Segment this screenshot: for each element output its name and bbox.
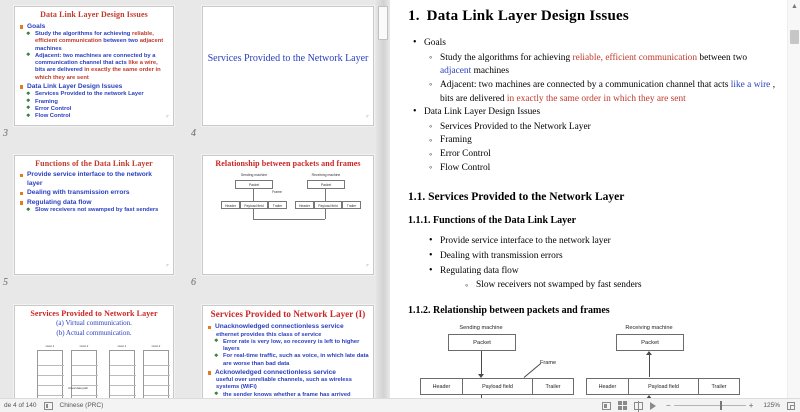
normal-view-icon[interactable] xyxy=(602,402,611,410)
bullet-level1: Dealing with transmission errors xyxy=(19,189,169,197)
slide-thumbnail-5[interactable]: Functions of the Data Link Layer Provide… xyxy=(14,155,174,275)
bullet-level2: Error Control xyxy=(19,106,169,113)
pane-splitter-scrollbar[interactable] xyxy=(376,0,390,412)
heading-text: Data Link Layer Design Issues xyxy=(427,8,629,24)
bullet-level1: Regulating data flow xyxy=(19,199,169,207)
heading-number: 1.1. xyxy=(408,191,425,203)
slide-cell[interactable]: Data Link Layer Design Issues Goals Stud… xyxy=(0,0,188,148)
bullet-level2: For real-time traffic, such as voice, in… xyxy=(207,353,369,367)
document-body: 1.Data Link Layer Design Issues Goals St… xyxy=(390,0,800,412)
slide-sorter-pane[interactable]: Data Link Layer Design Issues Goals Stud… xyxy=(0,0,376,412)
slide-number: 4 xyxy=(191,128,196,139)
status-bar: de 4 of 140 Chinese (PRC) − + 125% xyxy=(0,398,800,412)
section-heading-1-1: 1.1. Services Provided to the Network La… xyxy=(408,191,776,203)
list-item: Goals xyxy=(408,37,776,51)
slide-cell[interactable]: Relationship between packets and frames … xyxy=(188,149,376,299)
header-box: Header xyxy=(295,201,314,209)
frame-leader-line xyxy=(524,363,541,378)
bullet-level2: Framing xyxy=(19,99,169,106)
scrollbar-thumb[interactable] xyxy=(790,30,799,44)
bullet-plain: useful over unreliable channels, such as… xyxy=(207,377,369,391)
sending-machine-label: Sending machine xyxy=(436,325,526,331)
slide-indicator: de 4 of 140 xyxy=(4,402,37,409)
slide-title: Services Provided to the Network Layer xyxy=(203,53,373,66)
slide-title: Functions of the Data Link Layer xyxy=(15,160,173,169)
slide-cell[interactable]: Functions of the Data Link Layer Provide… xyxy=(0,149,188,299)
slide-cell[interactable]: Services Provided to the Network Layer ⌜… xyxy=(188,0,376,148)
heading-number: 1.1.1. xyxy=(408,215,431,226)
slide-cell[interactable]: Services Provided to Network Layer (a) V… xyxy=(0,299,188,412)
list-item: Framing xyxy=(408,134,776,148)
link-line xyxy=(325,209,326,219)
zoom-track[interactable] xyxy=(674,405,746,406)
zoom-slider[interactable]: − + xyxy=(663,401,756,410)
virtual-path-label: virtual data path xyxy=(65,386,91,390)
slide-title: Relationship between packets and frames xyxy=(203,160,373,169)
slide-thumbnail-6[interactable]: Relationship between packets and frames … xyxy=(202,155,374,275)
link-line xyxy=(253,209,254,219)
payload-field-box: Payload field xyxy=(462,378,532,395)
heading-number: 1. xyxy=(408,8,420,24)
slide-thumbnail-8[interactable]: Services Provided to Network Layer (I) U… xyxy=(202,305,374,412)
zoom-in-button[interactable]: + xyxy=(746,401,757,410)
status-bar-right: − + 125% xyxy=(602,401,800,410)
host-label: Host 1 xyxy=(109,344,135,348)
slide-number: 3 xyxy=(3,128,8,139)
slide-title: Services Provided to Network Layer xyxy=(15,310,173,319)
bullet-level1: Acknowledged connectionless service xyxy=(207,369,369,377)
frame-label: Frame xyxy=(263,190,291,194)
slide-title: Data Link Layer Design Issues xyxy=(15,11,173,20)
receiving-machine-label: Receiving machine xyxy=(604,325,694,331)
slide-thumbnail-4[interactable]: Services Provided to the Network Layer ⌜ xyxy=(202,6,374,126)
slide-number: 5 xyxy=(3,277,8,288)
powerpoint-window: Data Link Layer Design Issues Goals Stud… xyxy=(0,0,800,412)
list-item: Services Provided to the Network Layer xyxy=(408,121,776,135)
arrow-up-icon xyxy=(646,351,652,355)
trailer-box: Trailer xyxy=(532,378,574,395)
reading-view-icon[interactable] xyxy=(634,402,643,410)
language-indicator[interactable]: Chinese (PRC) xyxy=(60,402,104,409)
bullet-plain: ethernet provides this class of service xyxy=(207,332,369,339)
bullet-level1: Unacknowledged connectionless service xyxy=(207,323,369,331)
heading-text: Services Provided to the Network Layer xyxy=(428,191,624,203)
bullet-level2: Study the algorithms for achieving relia… xyxy=(19,31,169,53)
section-heading-1-1-1: 1.1.1. Functions of the Data Link Layer xyxy=(408,215,776,226)
heading-text: Functions of the Data Link Layer xyxy=(433,215,576,226)
slide-cell[interactable]: Services Provided to Network Layer (I) U… xyxy=(188,299,376,412)
bullet-level2: Slow receivers not swamped by fast sende… xyxy=(19,207,169,214)
zoom-level-label[interactable]: 125% xyxy=(763,402,780,409)
functions-list: Provide service interface to the network… xyxy=(424,235,776,293)
slide-corner-mark: ⌜ xyxy=(166,264,169,271)
host-label: Host 1 xyxy=(37,344,63,348)
packet-to-frame-line xyxy=(481,351,482,375)
trailer-box: Trailer xyxy=(342,201,361,209)
bullet-level2: Adjacent: two machines are connected by … xyxy=(19,53,169,82)
bullet-level1: Data Link Layer Design Issues xyxy=(19,83,169,91)
slide-corner-mark: ⌜ xyxy=(366,115,369,122)
list-item: Dealing with transmission errors xyxy=(424,250,776,264)
slide-body: Goals Study the algorithms for achieving… xyxy=(15,20,173,120)
slide-subline-b: (b) Actual communication. xyxy=(15,329,173,338)
slide-title: Services Provided to Network Layer (I) xyxy=(203,310,373,320)
slide-corner-mark: ⌜ xyxy=(166,115,169,122)
host-label: Host 2 xyxy=(143,344,169,348)
bullet-level2: Flow Control xyxy=(19,113,169,120)
list-item: Regulating data flow xyxy=(424,265,776,279)
payload-field-box: Payload field xyxy=(628,378,698,395)
outline-bullets: Goals Study the algorithms for achieving… xyxy=(408,37,776,175)
packet-box: Packet xyxy=(307,180,345,189)
payload-box: Payload field xyxy=(314,201,342,209)
document-vertical-scrollbar[interactable]: ▲ ▼ xyxy=(787,0,800,412)
slide-body: Provide service interface to the network… xyxy=(15,168,173,214)
list-item: Study the algorithms for achieving relia… xyxy=(408,52,776,79)
packets-frames-mini-diagram: Sending machine Receiving machine Packet… xyxy=(203,173,373,235)
link-line xyxy=(253,219,325,220)
slide-number: 6 xyxy=(191,277,196,288)
list-item: Flow Control xyxy=(408,162,776,176)
slide-thumbnail-3[interactable]: Data Link Layer Design Issues Goals Stud… xyxy=(14,6,174,126)
heading-text: Relationship between packets and frames xyxy=(433,305,610,316)
packet-box-sending: Packet xyxy=(448,334,516,351)
outline-document-pane[interactable]: 1.Data Link Layer Design Issues Goals St… xyxy=(390,0,800,412)
slide-thumbnail-7[interactable]: Services Provided to Network Layer (a) V… xyxy=(14,305,174,412)
sending-machine-label: Sending machine xyxy=(227,173,281,177)
theme-icon xyxy=(44,402,53,410)
zoom-knob[interactable] xyxy=(720,401,722,410)
header-box: Header xyxy=(420,378,462,395)
bullet-level1: Provide service interface to the network… xyxy=(19,171,169,188)
slide-subline-a: (a) Virtual communication. xyxy=(15,319,173,328)
slide-show-icon[interactable] xyxy=(650,402,656,410)
frame-label: Frame xyxy=(540,360,580,366)
packet-box: Packet xyxy=(235,180,273,189)
list-item: Data Link Layer Design Issues xyxy=(408,106,776,120)
frame-to-packet-line xyxy=(649,355,650,377)
scrollbar-thumb[interactable] xyxy=(378,6,388,40)
list-item: Adjacent: two machines are connected by … xyxy=(408,79,776,106)
slide-thumbnail-grid: Data Link Layer Design Issues Goals Stud… xyxy=(0,0,376,412)
list-item: Error Control xyxy=(408,148,776,162)
bullet-level1: Goals xyxy=(19,23,169,31)
host-label: Host 2 xyxy=(71,344,97,348)
slide-corner-mark: ⌜ xyxy=(366,264,369,271)
heading-number: 1.1.2. xyxy=(408,305,431,316)
payload-box: Payload field xyxy=(240,201,268,209)
bullet-level2: Services Provided to the network Layer xyxy=(19,91,169,98)
section-heading-1-1-2: 1.1.2. Relationship between packets and … xyxy=(408,305,776,316)
status-bar-left: de 4 of 140 Chinese (PRC) xyxy=(0,402,103,410)
bullet-level2: Error rate is very low, so recovery is l… xyxy=(207,339,369,353)
trailer-box: Trailer xyxy=(268,201,287,209)
slide-sorter-view-icon[interactable] xyxy=(618,401,627,410)
page-title: 1.Data Link Layer Design Issues xyxy=(408,8,776,25)
list-item: Slow receivers not swamped by fast sende… xyxy=(424,279,776,293)
arrow-line xyxy=(253,189,254,201)
fit-slide-to-window-icon[interactable] xyxy=(787,402,795,410)
header-box: Header xyxy=(221,201,240,209)
zoom-out-button[interactable]: − xyxy=(663,401,674,410)
list-item: Provide service interface to the network… xyxy=(424,235,776,249)
packet-box-receiving: Packet xyxy=(616,334,684,351)
scroll-up-arrow-icon[interactable]: ▲ xyxy=(788,0,800,13)
arrow-line xyxy=(325,189,326,201)
trailer-box: Trailer xyxy=(698,378,740,395)
header-box: Header xyxy=(586,378,628,395)
receiving-machine-label: Receiving machine xyxy=(299,173,353,177)
